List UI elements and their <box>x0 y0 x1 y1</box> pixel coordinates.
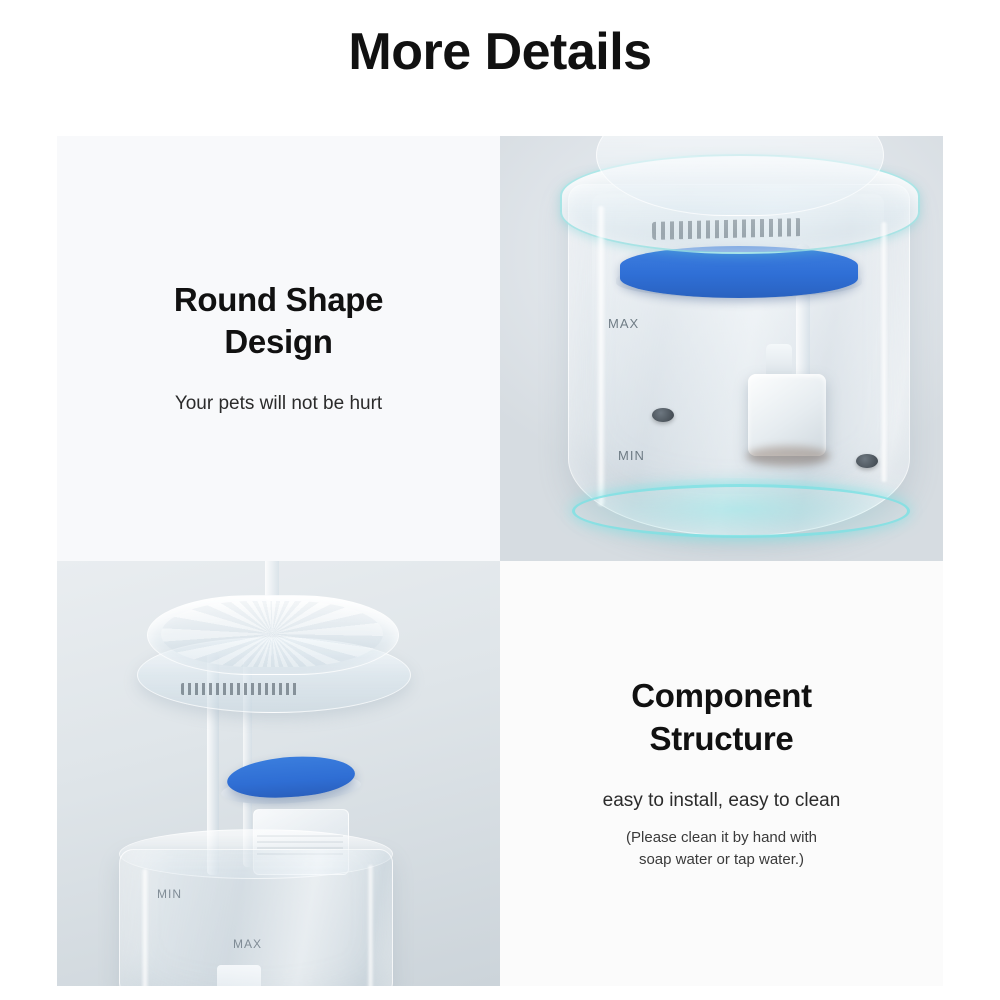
dome-ribs <box>161 601 383 667</box>
reservoir-closeup-illustration: MAX MIN <box>500 136 943 561</box>
feature-headline-line1: Component <box>631 677 812 714</box>
feature-headline: Component Structure <box>631 675 812 759</box>
feature-image-reservoir-closeup: MAX MIN <box>500 136 943 561</box>
feature-subline: Your pets will not be hurt <box>175 391 382 418</box>
feature-grid: Round Shape Design Your pets will not be… <box>57 136 943 986</box>
glass-highlight <box>880 222 888 482</box>
feature-headline-line2: Design <box>174 321 383 363</box>
product-detail-page: More Details Round Shape Design Your pet… <box>0 0 1000 1000</box>
glass-highlight <box>367 865 374 986</box>
feature-cell-round-shape-design: Round Shape Design Your pets will not be… <box>57 136 500 561</box>
screw-icon <box>652 408 674 422</box>
led-base-ring <box>572 484 910 538</box>
pump-module <box>748 374 826 456</box>
tank-foot <box>217 965 261 986</box>
water-level-mark-min: MIN <box>157 887 182 901</box>
glass-highlight <box>596 206 606 506</box>
screw-icon <box>856 454 878 468</box>
water-level-mark-max: MAX <box>233 937 262 951</box>
page-title: More Details <box>0 22 1000 82</box>
comb-grill-icon <box>181 683 299 695</box>
feature-note-line1: (Please clean it by hand with <box>626 829 817 846</box>
water-level-mark-min: MIN <box>618 448 645 463</box>
exploded-structure-illustration: MAX MIN <box>57 561 500 986</box>
feature-headline-line1: Round Shape <box>174 281 383 318</box>
feature-note-line2: soap water or tap water.) <box>626 849 817 872</box>
feature-headline-line2: Structure <box>631 718 812 760</box>
feature-cell-component-structure: Component Structure easy to install, eas… <box>500 561 943 986</box>
water-level-mark-max: MAX <box>608 316 639 331</box>
pump-shadow <box>746 446 830 466</box>
glass-highlight <box>141 869 149 986</box>
feature-image-exploded-structure: MAX MIN <box>57 561 500 986</box>
feature-subline: easy to install, easy to clean <box>603 788 841 815</box>
feature-note: (Please clean it by hand with soap water… <box>626 827 817 872</box>
feature-headline: Round Shape Design <box>174 279 383 363</box>
